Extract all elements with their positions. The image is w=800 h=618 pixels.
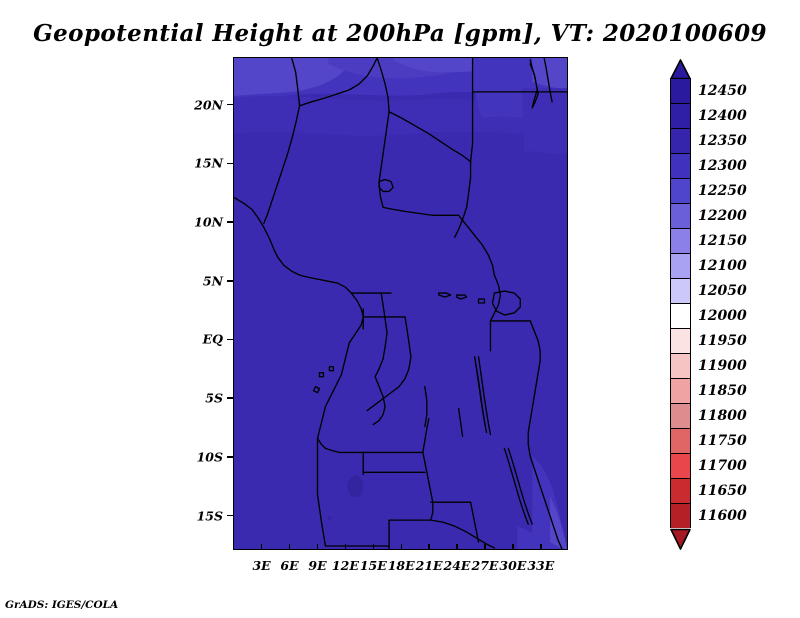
x-tick	[401, 544, 403, 550]
x-tick	[289, 544, 291, 550]
chart-root: Geopotential Height at 200hPa [gpm], VT:…	[0, 0, 800, 618]
x-tick	[484, 544, 486, 550]
y-axis-label-5n: 5N	[183, 273, 223, 288]
colorbar-band	[670, 153, 691, 178]
map-plot-area	[233, 57, 568, 550]
colorbar-tick-label: 11600	[698, 508, 747, 524]
y-axis-label-20n: 20N	[183, 97, 223, 112]
colorbar-tick-label: 12400	[698, 108, 747, 124]
map-field-svg	[234, 58, 567, 549]
colorbar-band	[670, 278, 691, 303]
colorbar-band	[670, 253, 691, 278]
colorbar-tick-label: 12100	[698, 258, 747, 274]
y-axis-label-15s: 15S	[183, 508, 223, 523]
colorbar-band	[670, 228, 691, 253]
colorbar-band	[670, 478, 691, 503]
footer-attribution: GrADS: IGES/COLA	[5, 599, 118, 611]
x-tick	[428, 544, 430, 550]
colorbar-tick-label: 11750	[698, 433, 747, 449]
x-axis-label-27e: 27E	[472, 558, 499, 573]
x-axis-label-9e: 9E	[308, 558, 326, 573]
x-axis-label-6e: 6E	[280, 558, 298, 573]
x-axis-label-21e: 21E	[416, 558, 443, 573]
colorbar-tick-label: 11700	[698, 458, 747, 474]
colorbar-tick-label: 12350	[698, 133, 747, 149]
colorbar-band	[670, 453, 691, 478]
x-tick	[373, 544, 375, 550]
y-tick	[227, 280, 233, 282]
colorbar-band	[670, 203, 691, 228]
colorbar-tick-label: 11800	[698, 408, 747, 424]
colorbar-band	[670, 503, 691, 528]
colorbar-tick-label: 11900	[698, 358, 747, 374]
x-tick	[540, 544, 542, 550]
colorbar-tick-label: 11850	[698, 383, 747, 399]
colorbar	[670, 78, 691, 528]
colorbar-band	[670, 353, 691, 378]
x-tick	[317, 544, 319, 550]
y-tick	[227, 339, 233, 341]
x-axis-label-30e: 30E	[499, 558, 526, 573]
colorbar-band	[670, 378, 691, 403]
x-axis-label-18e: 18E	[388, 558, 415, 573]
colorbar-band	[670, 428, 691, 453]
x-axis-label-15e: 15E	[360, 558, 387, 573]
y-tick	[227, 397, 233, 399]
colorbar-tick-label: 12150	[698, 233, 747, 249]
colorbar-band	[670, 78, 691, 103]
x-tick	[456, 544, 458, 550]
colorbar-band	[670, 103, 691, 128]
colorbar-arrow-bottom	[670, 528, 691, 550]
y-axis-label-eq: EQ	[183, 332, 223, 347]
colorbar-band	[670, 328, 691, 353]
colorbar-tick-label: 12450	[698, 83, 747, 99]
x-axis-label-12e: 12E	[332, 558, 359, 573]
x-tick	[345, 544, 347, 550]
y-tick	[227, 163, 233, 165]
x-axis-label-24e: 24E	[444, 558, 471, 573]
y-tick	[227, 104, 233, 106]
colorbar-tick-label: 12050	[698, 283, 747, 299]
y-tick	[227, 456, 233, 458]
x-tick	[512, 544, 514, 550]
x-tick	[261, 544, 263, 550]
colorbar-tick-label: 12000	[698, 308, 747, 324]
y-tick	[227, 221, 233, 223]
colorbar-tick-label: 12300	[698, 158, 747, 174]
x-axis-label-33e: 33E	[527, 558, 554, 573]
colorbar-arrow-top	[670, 59, 691, 79]
x-axis-label-3e: 3E	[252, 558, 270, 573]
colorbar-tick-label: 12200	[698, 208, 747, 224]
y-axis-label-10s: 10S	[183, 449, 223, 464]
colorbar-tick-label: 11650	[698, 483, 747, 499]
colorbar-band	[670, 403, 691, 428]
y-tick	[227, 515, 233, 517]
colorbar-band	[670, 128, 691, 153]
y-axis-label-5s: 5S	[183, 391, 223, 406]
y-axis-label-10n: 10N	[183, 215, 223, 230]
colorbar-tick-label: 11950	[698, 333, 747, 349]
y-axis-label-15n: 15N	[183, 156, 223, 171]
colorbar-band	[670, 303, 691, 328]
chart-title: Geopotential Height at 200hPa [gpm], VT:…	[0, 20, 800, 47]
colorbar-tick-label: 12250	[698, 183, 747, 199]
colorbar-band	[670, 178, 691, 203]
